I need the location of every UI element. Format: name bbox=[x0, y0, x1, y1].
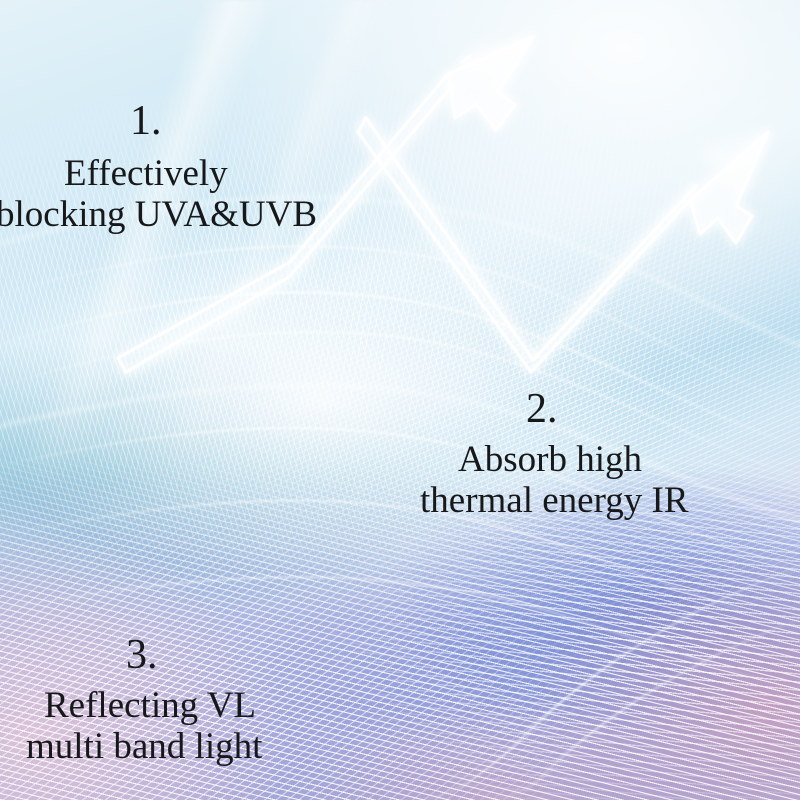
callout-1-line-1: Effectively bbox=[64, 154, 317, 195]
callout-2-line-2: thermal energy IR bbox=[420, 481, 689, 522]
callout-1-line-2: blocking UVA&UVB bbox=[0, 195, 317, 236]
callout-3-line-1: Reflecting VL bbox=[44, 686, 262, 727]
infographic-canvas: 1. Effectively blocking UVA&UVB 2. Absor… bbox=[0, 0, 800, 800]
callout-block-3: 3. Reflecting VL multi band light bbox=[0, 634, 262, 767]
callout-block-2: 2. Absorb high thermal energy IR bbox=[420, 388, 689, 521]
callout-3-line-2: multi band light bbox=[26, 727, 262, 768]
callout-3-number: 3. bbox=[126, 634, 262, 676]
callout-block-1: 1. Effectively blocking UVA&UVB bbox=[0, 100, 317, 235]
callout-2-number: 2. bbox=[526, 388, 689, 430]
callout-1-number: 1. bbox=[130, 100, 317, 142]
arrow-upward-right bbox=[358, 118, 768, 372]
callout-2-line-1: Absorb high bbox=[458, 440, 689, 481]
